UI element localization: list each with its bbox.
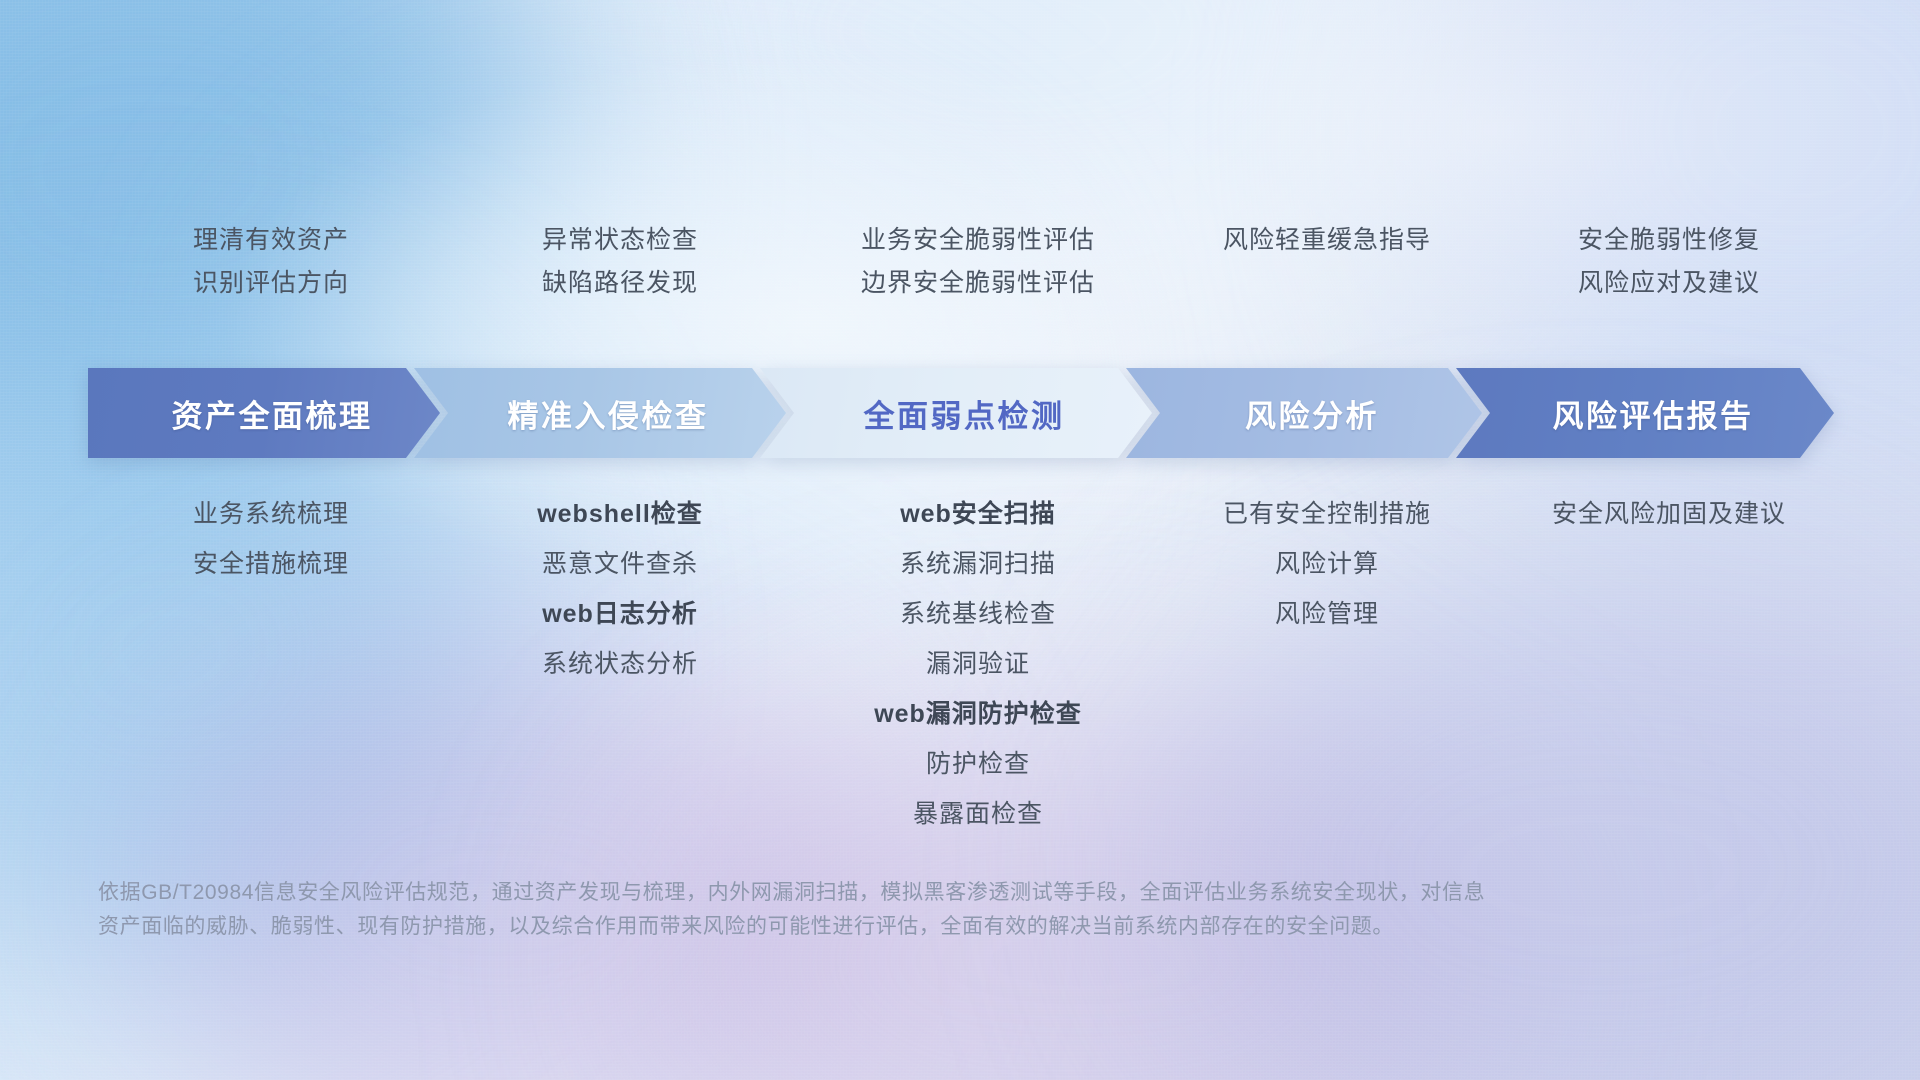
top-caption-item: 理清有效资产 — [193, 228, 349, 253]
stage-label: 资产全面梳理 — [156, 391, 373, 436]
bottom-caption-item: 漏洞验证 — [926, 652, 1030, 677]
stage-chevron-band: 资产全面梳理 精准入侵检查 全面弱点检测 风险分析 风险评估报告 — [88, 368, 1848, 458]
bottom-caption-item: 恶意文件查杀 — [542, 552, 698, 577]
stage-chevron-asset-inventory[interactable]: 资产全面梳理 — [88, 368, 440, 458]
footer-line-2: 资产面临的威胁、脆弱性、现有防护措施，以及综合作用而带来风险的可能性进行评估，全… — [98, 910, 1628, 944]
top-caption-item: 安全脆弱性修复 — [1578, 228, 1760, 253]
top-caption-item: 边界安全脆弱性评估 — [861, 271, 1095, 296]
bottom-captions-intrusion-inspection: webshell检查 恶意文件查杀 web日志分析 系统状态分析 — [446, 502, 794, 827]
stage-chevron-assessment-report[interactable]: 风险评估报告 — [1456, 368, 1834, 458]
footer-line-1: 依据GB/T20984信息安全风险评估规范，通过资产发现与梳理，内外网漏洞扫描，… — [98, 876, 1628, 910]
bottom-caption-item: webshell检查 — [537, 502, 703, 527]
bottom-caption-item: 风险计算 — [1275, 552, 1379, 577]
top-caption-item: 缺陷路径发现 — [542, 271, 698, 296]
stage-chevron-weakness-detection[interactable]: 全面弱点检测 — [760, 368, 1152, 458]
stage-label: 全面弱点检测 — [848, 391, 1065, 436]
top-captions-risk-analysis: 风险轻重缓急指导 — [1162, 228, 1492, 348]
top-caption-row: 理清有效资产 识别评估方向 异常状态检查 缺陷路径发现 业务安全脆弱性评估 边界… — [96, 228, 1846, 348]
top-caption-item: 识别评估方向 — [193, 271, 349, 296]
bottom-caption-item: web日志分析 — [542, 602, 698, 627]
bottom-caption-row: 业务系统梳理 安全措施梳理 webshell检查 恶意文件查杀 web日志分析 … — [96, 502, 1846, 827]
footer-description: 依据GB/T20984信息安全风险评估规范，通过资产发现与梳理，内外网漏洞扫描，… — [98, 876, 1628, 944]
bottom-caption-item: 系统漏洞扫描 — [900, 552, 1056, 577]
bottom-caption-item: 安全措施梳理 — [193, 552, 349, 577]
bottom-caption-item: 风险管理 — [1275, 602, 1379, 627]
bottom-caption-item: 业务系统梳理 — [193, 502, 349, 527]
stage-label: 风险评估报告 — [1537, 391, 1754, 436]
bottom-captions-asset-inventory: 业务系统梳理 安全措施梳理 — [96, 502, 446, 827]
bottom-caption-item: 暴露面检查 — [913, 802, 1043, 827]
bottom-captions-risk-analysis: 已有安全控制措施 风险计算 风险管理 — [1162, 502, 1492, 827]
stage-chevron-intrusion-inspection[interactable]: 精准入侵检查 — [414, 368, 786, 458]
process-diagram: 理清有效资产 识别评估方向 异常状态检查 缺陷路径发现 业务安全脆弱性评估 边界… — [0, 0, 1920, 1080]
stage-label: 风险分析 — [1229, 391, 1379, 436]
bottom-caption-item: 安全风险加固及建议 — [1552, 502, 1786, 527]
top-caption-item: 业务安全脆弱性评估 — [861, 228, 1095, 253]
bottom-caption-item: 防护检查 — [926, 752, 1030, 777]
bottom-captions-weakness-detection: web安全扫描 系统漏洞扫描 系统基线检查 漏洞验证 web漏洞防护检查 防护检… — [794, 502, 1162, 827]
top-captions-asset-inventory: 理清有效资产 识别评估方向 — [96, 228, 446, 348]
bottom-caption-item: 已有安全控制措施 — [1223, 502, 1431, 527]
top-caption-item: 风险应对及建议 — [1578, 271, 1760, 296]
stage-chevron-risk-analysis[interactable]: 风险分析 — [1126, 368, 1482, 458]
top-captions-weakness-detection: 业务安全脆弱性评估 边界安全脆弱性评估 — [794, 228, 1162, 348]
stage-label: 精准入侵检查 — [492, 391, 709, 436]
bottom-captions-assessment-report: 安全风险加固及建议 — [1492, 502, 1846, 827]
top-caption-item: 异常状态检查 — [542, 228, 698, 253]
bottom-caption-item: web漏洞防护检查 — [874, 702, 1082, 727]
bottom-caption-item: 系统状态分析 — [542, 652, 698, 677]
bottom-caption-item: web安全扫描 — [900, 502, 1056, 527]
top-caption-item: 风险轻重缓急指导 — [1223, 228, 1431, 253]
bottom-caption-item: 系统基线检查 — [900, 602, 1056, 627]
top-captions-intrusion-inspection: 异常状态检查 缺陷路径发现 — [446, 228, 794, 348]
top-captions-assessment-report: 安全脆弱性修复 风险应对及建议 — [1492, 228, 1846, 348]
